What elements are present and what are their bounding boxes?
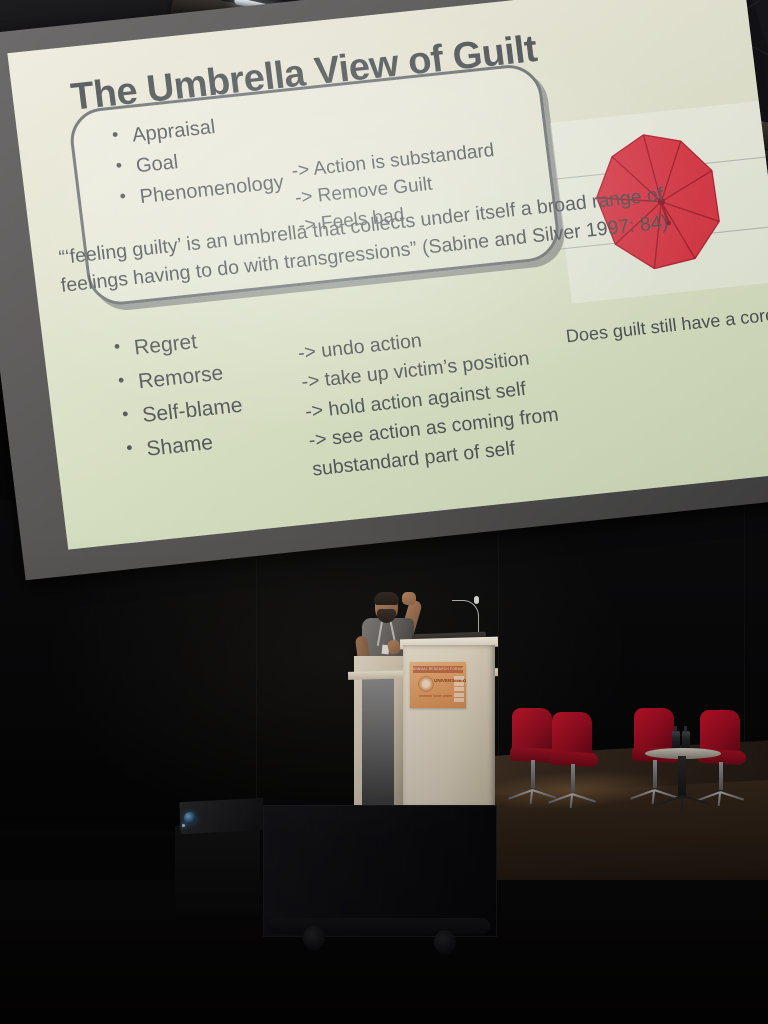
round-side-table-base — [652, 790, 714, 802]
slide-question: Does guilt still have a core? — [565, 303, 768, 347]
poster-banner: ANNUAL RESEARCH FORUM — [413, 666, 463, 673]
projector-status-led — [182, 824, 185, 827]
guilt-feelings-bullet-list: Regret Remorse Self-blame Shame — [110, 321, 248, 469]
gooseneck-microphone-head[interactable] — [474, 596, 479, 604]
cart-caster-wheel — [303, 926, 325, 950]
av-display-cart-base — [268, 918, 490, 934]
wall-seam — [256, 520, 257, 800]
speaker-hair — [374, 592, 399, 604]
projection-screen-surface: The Umbrella View of Guilt Appraisal Goa… — [7, 0, 768, 550]
photo-scene: The Umbrella View of Guilt Appraisal Goa… — [0, 0, 768, 1024]
poster-logo-icon — [419, 677, 433, 691]
projector-stand — [175, 826, 260, 914]
poster-banner-text: ANNUAL RESEARCH FORUM — [413, 666, 463, 673]
projection-screen-frame: The Umbrella View of Guilt Appraisal Goa… — [0, 0, 768, 580]
lectern-support-leg — [362, 678, 394, 806]
lectern-poster: ANNUAL RESEARCH FORUM UNIVERSITÉ DE GENÈ… — [410, 662, 466, 708]
cart-caster-wheel — [434, 930, 456, 954]
guilt-feelings-arrow-list: -> undo action -> take up victim’s posit… — [296, 313, 563, 484]
poster-subtitle-text: research forum poster — [419, 694, 452, 698]
projector-lens-icon — [184, 812, 196, 824]
speaker-fist — [402, 592, 416, 605]
chair-base — [550, 788, 598, 801]
projection-screen-assembly: The Umbrella View of Guilt Appraisal Goa… — [0, 0, 768, 587]
appraisal-bullet-list: Appraisal Goal Phenomenology — [109, 106, 286, 216]
poster-sponsor-strip — [454, 676, 464, 704]
